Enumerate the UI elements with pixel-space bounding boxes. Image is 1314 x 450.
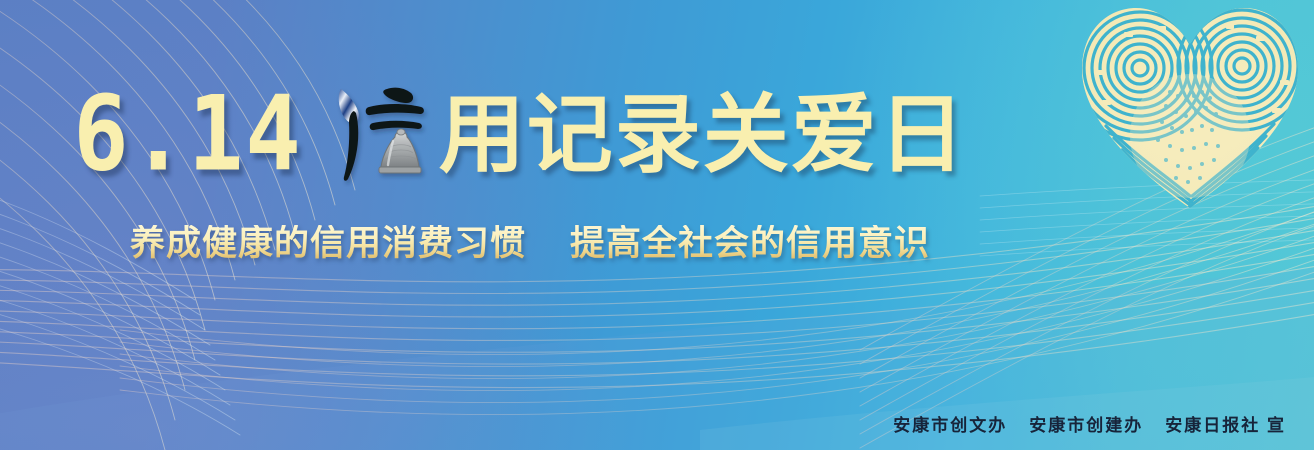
credits-line: 安康市创文办 安康市创建办 安康日报社 宣	[893, 411, 1286, 436]
fingerprint-heart-icon	[1066, 0, 1314, 214]
credit-care-day-banner: 6.14	[0, 0, 1314, 450]
subtitle-part-1: 养成健康的信用消费习惯	[130, 225, 526, 264]
title-main-text: 用记录关爱日	[439, 92, 967, 178]
date-number: 6.14	[73, 83, 303, 186]
banner-subtitle: 养成健康的信用消费习惯 提高全社会的信用意识	[0, 225, 1060, 264]
banner-title: 6.14	[0, 76, 1040, 194]
credit-item-1: 安康市创文办	[893, 411, 1007, 436]
subtitle-part-2: 提高全社会的信用意识	[570, 225, 930, 264]
stylized-xin-character	[329, 83, 433, 187]
credit-item-3: 安康日报社 宣	[1165, 411, 1286, 436]
credit-item-2: 安康市创建办	[1029, 411, 1143, 436]
